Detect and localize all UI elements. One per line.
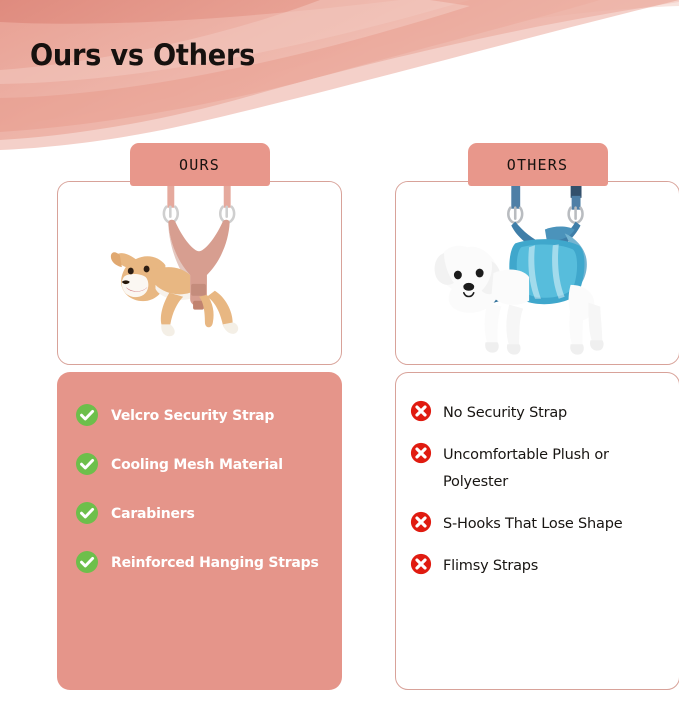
feature-label: Flimsy Straps (443, 553, 538, 580)
feature-item: No Security Strap (410, 400, 663, 427)
cross-icon (410, 553, 432, 575)
feature-item: Cooling Mesh Material (75, 451, 326, 479)
feature-label: Velcro Security Strap (111, 402, 274, 430)
feature-item: Carabiners (75, 500, 326, 528)
check-icon (75, 452, 99, 476)
feature-label: Reinforced Hanging Straps (111, 549, 319, 577)
banner-shapes (0, 0, 679, 150)
feature-label: No Security Strap (443, 400, 567, 427)
column-tab-others: OTHERS (468, 143, 608, 186)
cross-icon (410, 400, 432, 422)
cross-icon (410, 442, 432, 464)
feature-panel-others: No Security Strap Uncomfortable Plush or… (395, 372, 679, 690)
feature-label: Cooling Mesh Material (111, 451, 283, 479)
header-banner (0, 0, 679, 150)
product-photo-others (395, 181, 679, 365)
feature-item: S-Hooks That Lose Shape (410, 511, 663, 538)
feature-label: S-Hooks That Lose Shape (443, 511, 622, 538)
page-title: Ours vs Others (30, 38, 255, 72)
bichon-in-blue-sling-illustration (396, 182, 679, 364)
feature-item: Reinforced Hanging Straps (75, 549, 326, 577)
check-icon (75, 501, 99, 525)
feature-item: Uncomfortable Plush or Polyester (410, 442, 663, 496)
tab-label-others: OTHERS (507, 156, 568, 174)
cross-icon (410, 511, 432, 533)
check-icon (75, 403, 99, 427)
check-icon (75, 550, 99, 574)
tab-label-ours: OURS (179, 156, 220, 174)
feature-label: Carabiners (111, 500, 195, 528)
feature-label: Uncomfortable Plush or Polyester (443, 442, 663, 496)
feature-item: Flimsy Straps (410, 553, 663, 580)
feature-panel-ours: Velcro Security Strap Cooling Mesh Mater… (57, 372, 342, 690)
column-tab-ours: OURS (130, 143, 270, 186)
corgi-in-pink-hammock-illustration (58, 182, 341, 364)
product-photo-ours (57, 181, 342, 365)
comparison-columns: OURS (0, 143, 679, 703)
feature-item: Velcro Security Strap (75, 402, 326, 430)
